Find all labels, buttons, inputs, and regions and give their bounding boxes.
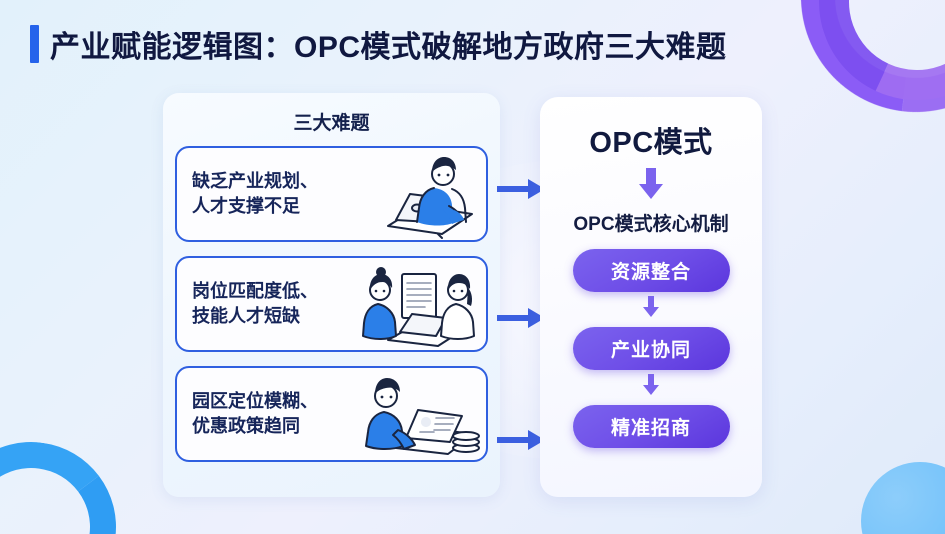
blue-ring-decoration (0, 431, 127, 534)
purple-arc-decoration (755, 0, 945, 158)
problem-card[interactable]: 岗位匹配度低、 技能人才短缺 (175, 256, 488, 352)
problem-card[interactable]: 园区定位模糊、 优惠政策趋同 (175, 366, 488, 462)
opc-model-panel: OPC模式 OPC模式核心机制 资源整合 产业协同 精准招商 (540, 97, 762, 497)
arrow-down-icon (642, 296, 660, 323)
purple-arc-decoration-inner (791, 0, 945, 128)
mechanism-step-industry-synergy[interactable]: 产业协同 (573, 327, 730, 370)
page-title: 产业赋能逻辑图：OPC模式破解地方政府三大难题 (30, 22, 727, 66)
problem-card-label: 岗位匹配度低、 技能人才短缺 (192, 279, 318, 329)
problems-panel-heading: 三大难题 (175, 108, 488, 135)
arrow-right-icon (497, 429, 545, 451)
mechanism-step-precise-investment[interactable]: 精准招商 (573, 405, 730, 448)
two-women-interview-icon (350, 258, 482, 350)
problems-panel: 三大难题 缺乏产业规划、 人才支撑不足 (163, 93, 500, 497)
problem-card[interactable]: 缺乏产业规划、 人才支撑不足 (175, 146, 488, 242)
blue-circle-decoration (861, 462, 945, 534)
mechanism-step-resource-integration[interactable]: 资源整合 (573, 249, 730, 292)
problem-card-label: 缺乏产业规划、 人才支撑不足 (192, 169, 318, 219)
man-reviewing-documents-icon (350, 368, 482, 460)
arrow-down-icon (642, 374, 660, 401)
opc-model-title: OPC模式 (589, 119, 712, 161)
title-text: 产业赋能逻辑图：OPC模式破解地方政府三大难题 (50, 22, 727, 66)
arrow-down-icon (637, 168, 665, 205)
title-accent-bar (30, 25, 39, 63)
arrow-right-icon (497, 178, 545, 200)
arrow-right-icon (497, 307, 545, 329)
problem-card-label: 园区定位模糊、 优惠政策趋同 (192, 389, 318, 439)
man-with-laptop-icon (350, 148, 482, 240)
opc-core-mechanism-label: OPC模式核心机制 (573, 209, 728, 236)
